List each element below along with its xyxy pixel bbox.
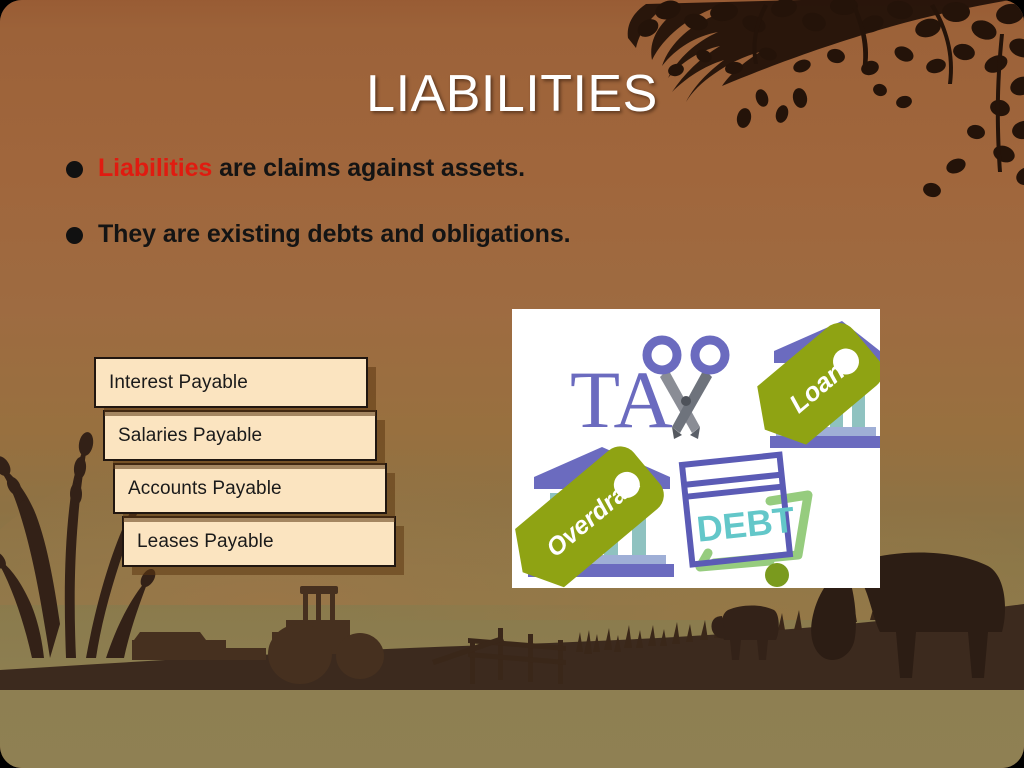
payable-box-label: Leases Payable [124,531,274,553]
bullet-text-2: They are existing debts and obligations. [98,218,570,250]
payable-box-leases[interactable]: Leases Payable [122,516,396,567]
slide-title: LIABILITIES [0,66,1024,123]
bullet-dot-icon [66,161,83,178]
payable-box-label: Interest Payable [96,372,248,394]
payable-box-stack: Interest Payable Salaries Payable Accoun… [94,357,414,587]
payable-box-label: Accounts Payable [115,478,282,500]
slide-canvas: LIABILITIES Liabilities are claims again… [0,0,1024,768]
debt-label: DEBT [695,499,797,550]
bullet-list: Liabilities are claims against assets. T… [66,152,766,284]
payable-box-accounts[interactable]: Accounts Payable [113,463,387,514]
bullet-item-1: Liabilities are claims against assets. [66,152,766,184]
bullet-item-2: They are existing debts and obligations. [66,218,766,250]
payable-box-label: Salaries Payable [105,425,262,447]
payable-box-salaries[interactable]: Salaries Payable [103,410,377,461]
liabilities-illustration: TA [512,309,880,588]
bullet-text-1: Liabilities are claims against assets. [98,152,525,184]
payable-box-interest[interactable]: Interest Payable [94,357,368,408]
bullet-rest-1: are claims against assets. [212,154,525,182]
bullet-keyword-1: Liabilities [98,154,212,182]
liabilities-illustration-panel: TA [512,309,880,588]
bullet-dot-icon [66,227,83,244]
bullet-rest-2: They are existing debts and obligations. [98,220,570,248]
debt-shopping-cart-icon: DEBT [682,454,808,587]
